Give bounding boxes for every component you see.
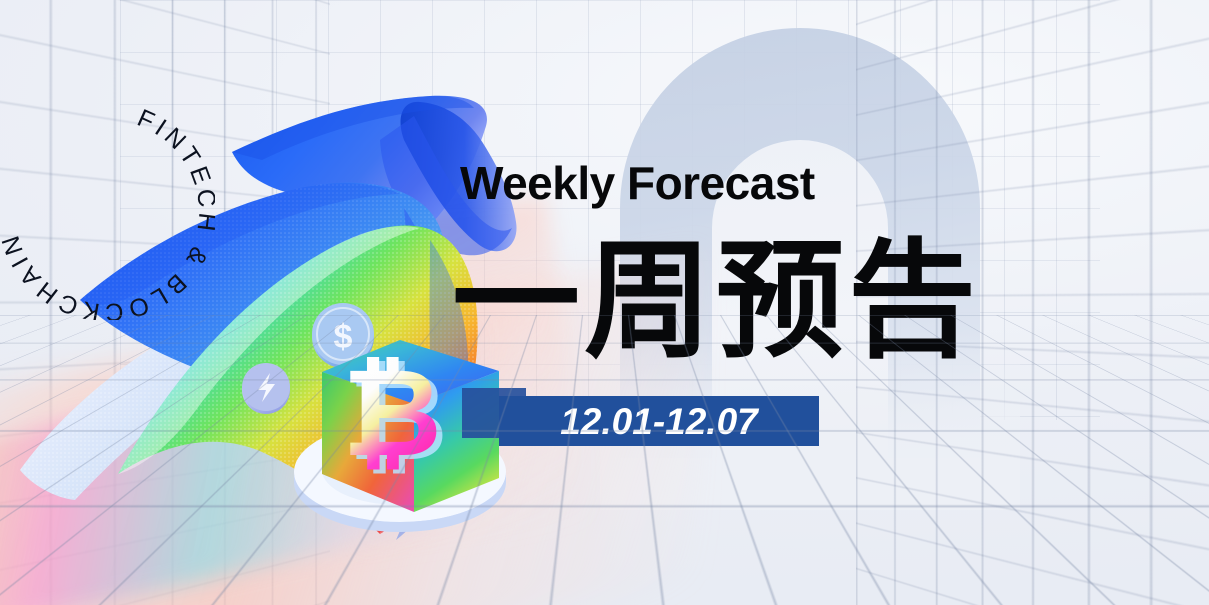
headline-english: Weekly Forecast [460,156,815,210]
svg-text:FINTECH & BLOCKCHAIN: FINTECH & BLOCKCHAIN [0,104,215,320]
date-range-badge: 12.01-12.07 [499,396,819,446]
date-range-label: 12.01-12.07 [560,403,758,440]
headline-chinese: 一周预告 [452,238,980,366]
fintech-blockchain-circular-text: FINTECH & BLOCKCHAIN [0,100,215,320]
circular-text-label: FINTECH & BLOCKCHAIN [0,104,215,320]
weekly-forecast-banner: $ ₿ ₿ FINTE [0,0,1209,605]
